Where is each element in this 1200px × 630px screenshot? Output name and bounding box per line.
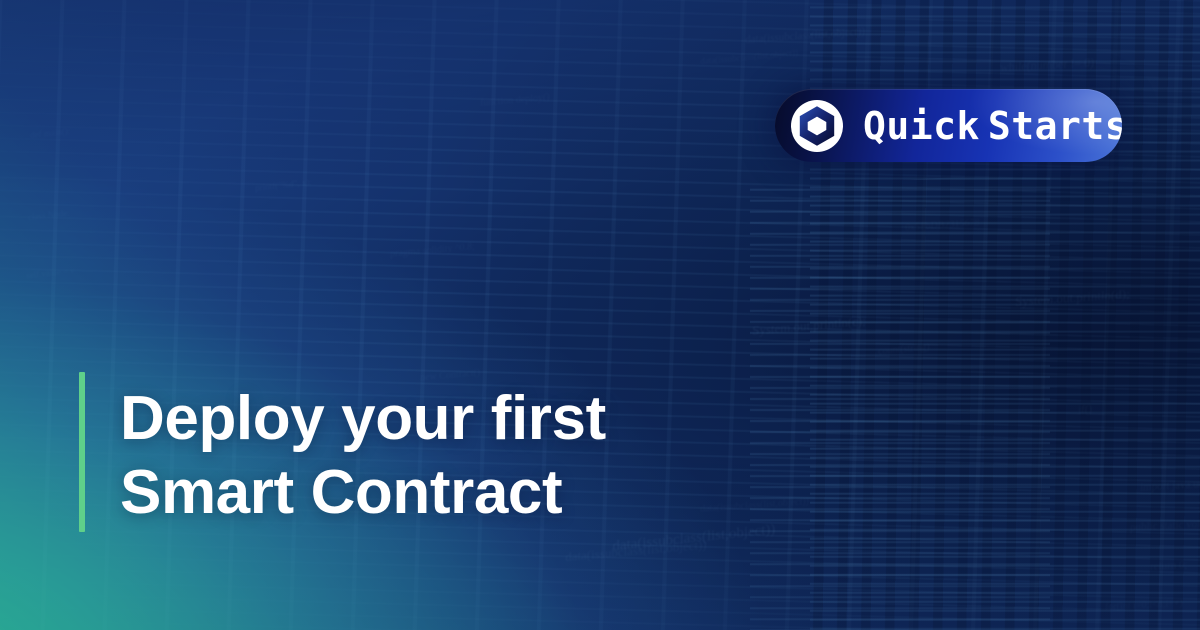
badge-label-quick: Quick <box>863 104 980 148</box>
headline-accent-bar <box>79 372 85 532</box>
chainlink-hexagon-icon <box>791 100 843 152</box>
page-title-line-1: Deploy your first <box>120 382 760 456</box>
quickstarts-badge[interactable]: QuickStarts <box>775 89 1122 162</box>
page-title-line-2: Smart Contract <box>120 456 760 530</box>
badge-label-starts: Starts <box>988 104 1122 148</box>
page-title: Deploy your first Smart Contract <box>120 382 760 530</box>
badge-label: QuickStarts <box>863 107 1122 145</box>
social-card: data(issubclass(list,object))data(issubc… <box>0 0 1200 630</box>
